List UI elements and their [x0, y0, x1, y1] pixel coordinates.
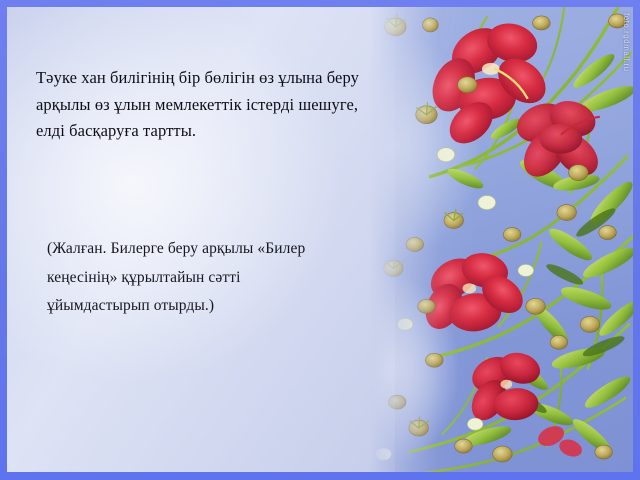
slide-inner-canvas: foto.rgdmall.ru Тәуке хан билігінің бір …	[7, 7, 633, 472]
slide-canvas: foto.rgdmall.ru Тәуке хан билігінің бір …	[0, 0, 640, 480]
paragraph-main: Тәуке хан билігінің бір бөлігін өз ұлына…	[36, 65, 446, 145]
text-layer: Тәуке хан билігінің бір бөлігін өз ұлына…	[7, 7, 633, 472]
paragraph-main-line-1: Тәуке хан билігінің бір бөлігін өз ұлына…	[36, 65, 446, 92]
paragraph-note: (Жалған. Билерге беру арқылы «Билер кеңе…	[47, 235, 417, 321]
paragraph-main-line-2: арқылы өз ұлын мемлекеттік істерді шешуг…	[36, 92, 446, 119]
paragraph-main-line-3: елді басқаруға тартты.	[36, 118, 446, 145]
paragraph-note-line-2: кеңесінің» құрылтайын сәтті	[47, 264, 417, 293]
paragraph-note-line-1: (Жалған. Билерге беру арқылы «Билер	[47, 235, 417, 264]
paragraph-note-line-3: ұйымдастырып отырды.)	[47, 292, 417, 321]
